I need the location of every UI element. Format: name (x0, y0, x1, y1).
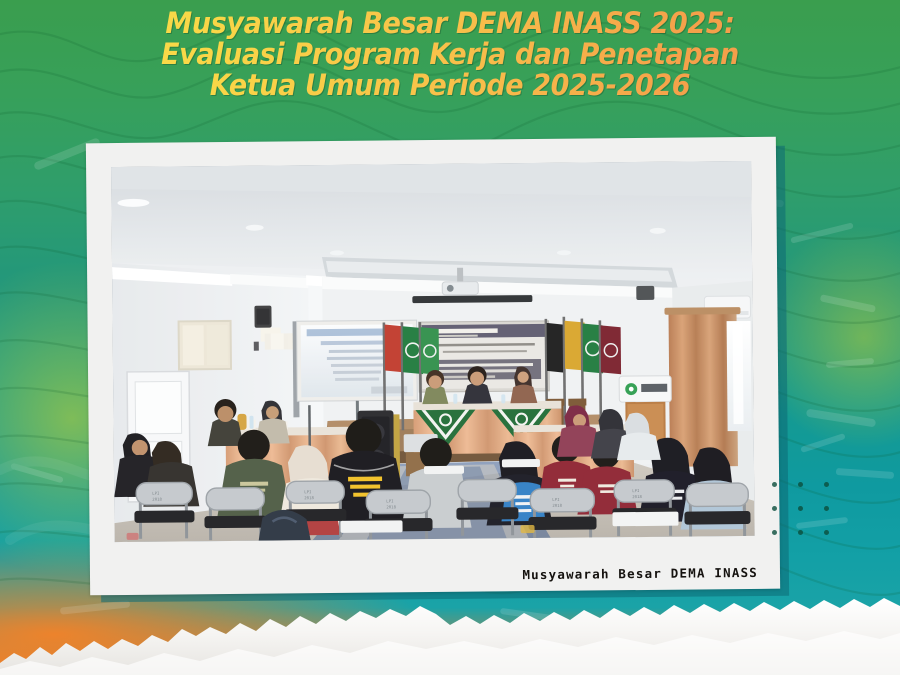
event-photo: LPI2018 LPI2018 LPI2018 LPI2018 LPI2018 (111, 161, 755, 542)
dot (772, 530, 777, 535)
photo-caption: Musyawarah Besar DEMA INASS (522, 565, 758, 582)
dot (824, 530, 829, 535)
title-line-1: Musyawarah Besar DEMA INASS 2025: (32, 8, 869, 39)
dot (798, 482, 803, 487)
title-line-2: Evaluasi Program Kerja dan Penetapan (32, 39, 869, 70)
dot (824, 482, 829, 487)
dot (772, 482, 777, 487)
title-line-3: Ketua Umum Periode 2025-2026 (32, 70, 869, 101)
decorative-dot-grid (772, 482, 850, 554)
poster-title: Musyawarah Besar DEMA INASS 2025: Evalua… (0, 8, 900, 101)
dot (772, 506, 777, 511)
dot (798, 530, 803, 535)
dot (824, 506, 829, 511)
photo-card: LPI2018 LPI2018 LPI2018 LPI2018 LPI2018 (86, 137, 780, 596)
dot (798, 506, 803, 511)
